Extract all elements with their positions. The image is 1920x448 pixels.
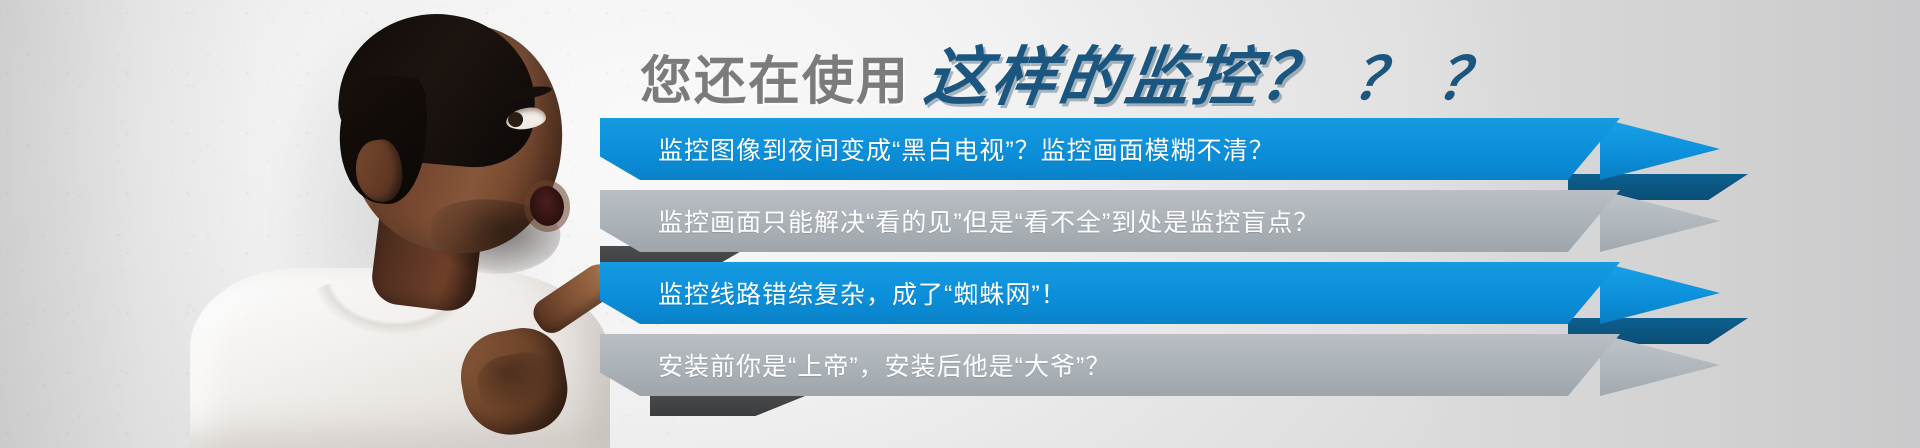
list-item-label: 监控线路错综复杂，成了“蜘蛛网”！	[658, 275, 1067, 311]
headline-question-mark-3: ？	[1432, 32, 1502, 116]
ribbon-bar: 安装前你是“上帝”，安装后他是“大爷”？	[600, 334, 1620, 396]
headline: 您还在使用 这样的监控？ ？ ？	[640, 26, 1496, 118]
pain-point-list: 监控图像到夜间变成“黑白电视”？监控画面模糊不清？ 监控画面只能解决“看的见”但…	[0, 118, 1920, 388]
ribbon-tip	[1600, 118, 1720, 180]
ribbon-tip	[1600, 262, 1720, 324]
ribbon-bar: 监控图像到夜间变成“黑白电视”？监控画面模糊不清？	[600, 118, 1620, 180]
ribbon-bar: 监控画面只能解决“看的见”但是“看不全”到处是监控盲点？	[600, 190, 1620, 252]
headline-prefix: 您还在使用	[640, 39, 910, 114]
ribbon-bar: 监控线路错综复杂，成了“蜘蛛网”！	[600, 262, 1620, 324]
headline-question-mark-2: ？	[1348, 32, 1418, 116]
list-item-label: 安装前你是“上帝”，安装后他是“大爷”？	[658, 347, 1111, 383]
promo-banner: 您还在使用 这样的监控？ ？ ？ 监控图像到夜间变成“黑白电视”？监控画面模糊不…	[0, 0, 1920, 448]
list-item-label: 监控图像到夜间变成“黑白电视”？监控画面模糊不清？	[658, 131, 1275, 167]
list-item-label: 监控画面只能解决“看的见”但是“看不全”到处是监控盲点？	[658, 203, 1319, 239]
headline-emphasis: 这样的监控？	[920, 26, 1335, 118]
